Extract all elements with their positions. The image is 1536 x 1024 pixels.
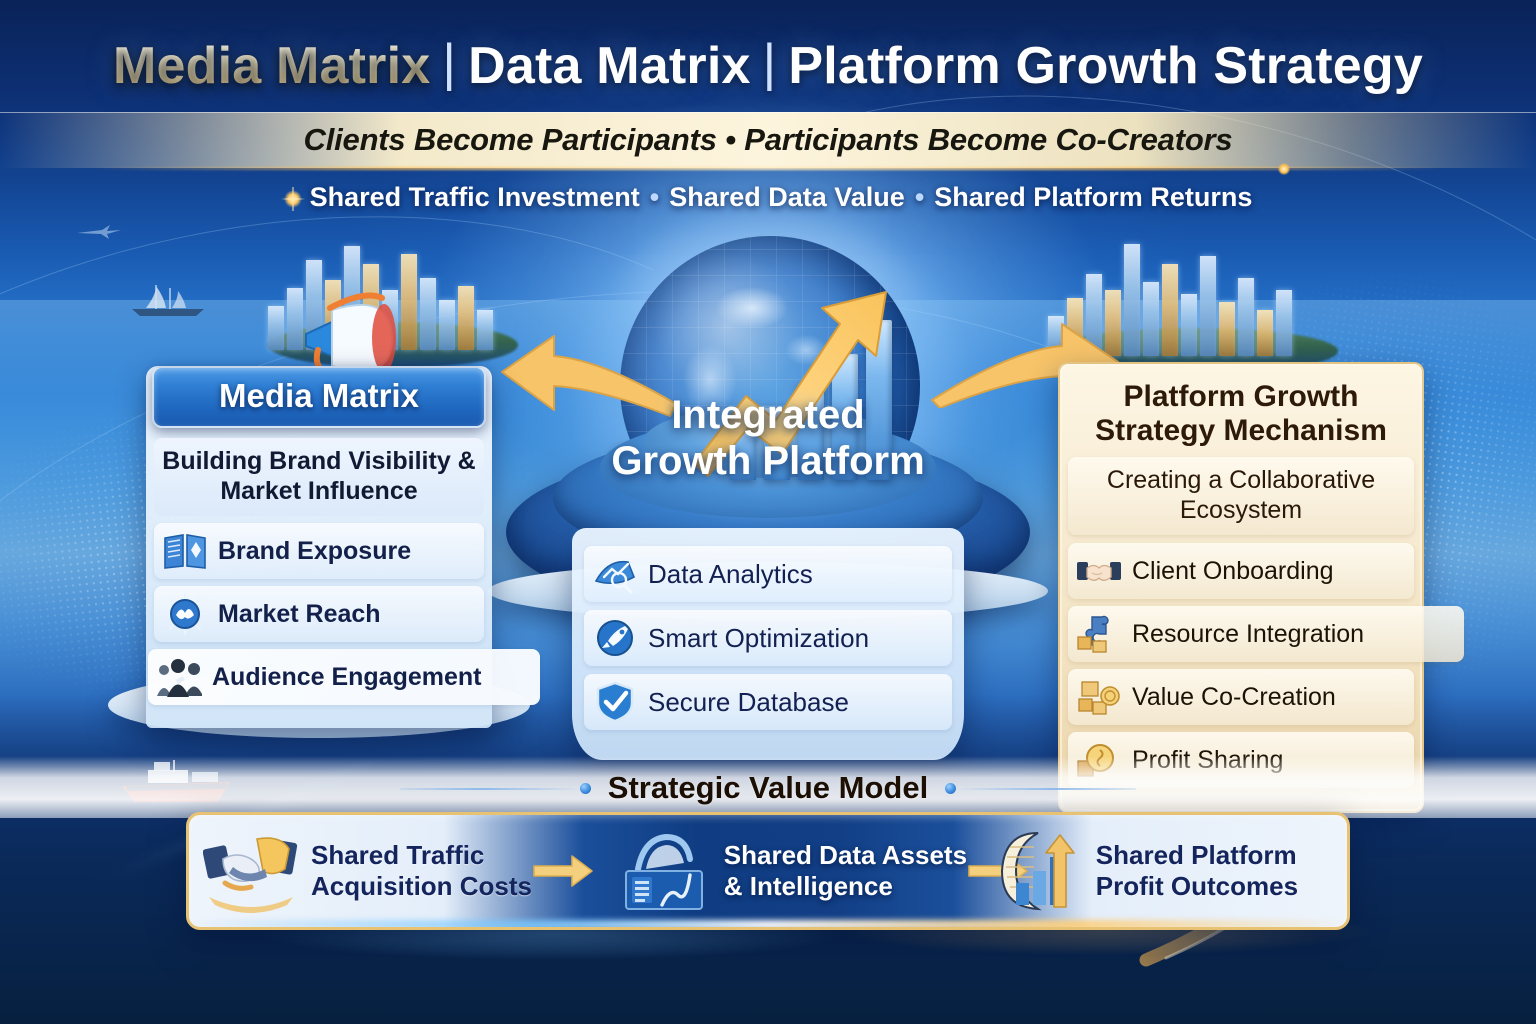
list-item-label: Smart Optimization	[648, 623, 869, 654]
connector-line-right	[956, 788, 1136, 790]
handshake-icon	[1076, 550, 1122, 592]
center-platform-title: Integrated Growth Platform	[506, 392, 1030, 485]
value-step-3-label: Shared Platform Profit Outcomes	[1096, 840, 1298, 902]
tagline-item-2: Shared Data Value	[669, 182, 905, 212]
bar-chart-arrow-icon	[988, 825, 1084, 917]
list-item[interactable]: Resource Integration	[1068, 606, 1464, 662]
strategic-value-bar[interactable]: Shared Traffic Acquisition Costs	[186, 812, 1350, 930]
platform-growth-header-line-2: Strategy Mechanism	[1072, 414, 1410, 448]
sailboat-icon	[126, 279, 210, 319]
platform-growth-panel-header: Platform Growth Strategy Mechanism	[1060, 370, 1422, 451]
open-book-icon	[162, 530, 208, 572]
people-group-icon	[156, 656, 202, 698]
platform-growth-panel-subtitle: Creating a Collaborative Ecosystem	[1068, 457, 1414, 535]
subtitle-glow-dot	[1278, 163, 1290, 175]
list-item[interactable]: Value Co-Creation	[1068, 669, 1414, 725]
value-step-2-line-2: & Intelligence	[724, 871, 967, 902]
value-step-3-line-1: Shared Platform	[1096, 840, 1298, 871]
chart-magnifier-icon	[592, 553, 638, 595]
value-step-3[interactable]: Shared Platform Profit Outcomes	[988, 825, 1347, 917]
list-item-label: Data Analytics	[648, 559, 813, 590]
list-item-label: Resource Integration	[1132, 620, 1364, 649]
data-server-icon	[616, 825, 712, 917]
value-step-3-line-2: Profit Outcomes	[1096, 871, 1298, 902]
connector-dot-left	[580, 783, 591, 794]
page-title: Media Matrix|Data Matrix|Platform Growth…	[0, 36, 1536, 96]
flow-arrow-1-icon	[532, 850, 594, 892]
value-step-1[interactable]: Shared Traffic Acquisition Costs	[189, 825, 616, 917]
strategic-value-model-text: Strategic Value Model	[608, 770, 928, 805]
sparkle-icon	[284, 190, 302, 208]
list-item[interactable]: Smart Optimization	[584, 610, 952, 666]
integrated-growth-platform-panel[interactable]: Data Analytics Smart Optimization	[572, 528, 964, 760]
list-item[interactable]: Secure Database	[584, 674, 952, 730]
list-item-label: Brand Exposure	[218, 537, 411, 566]
shield-check-icon	[592, 681, 638, 723]
gold-coins-boxes-icon	[1076, 676, 1122, 718]
rocket-icon	[592, 617, 638, 659]
value-step-1-line-2: Acquisition Costs	[311, 871, 532, 902]
list-item[interactable]: Market Reach	[154, 586, 484, 642]
platform-growth-strategy-panel[interactable]: Platform Growth Strategy Mechanism Creat…	[1058, 362, 1424, 813]
globe-burst-icon	[162, 593, 208, 635]
value-step-1-line-1: Shared Traffic	[311, 840, 532, 871]
title-separator-2: |	[751, 34, 789, 92]
platform-growth-header-line-1: Platform Growth	[1072, 380, 1410, 414]
header: Media Matrix|Data Matrix|Platform Growth…	[0, 0, 1536, 232]
center-title-line-2: Growth Platform	[506, 438, 1030, 484]
connector-dot-right	[945, 783, 956, 794]
list-item[interactable]: Brand Exposure	[154, 523, 484, 579]
subtitle-banner: Clients Become Participants • Participan…	[0, 112, 1536, 168]
infographic-canvas: Media Matrix|Data Matrix|Platform Growth…	[0, 0, 1536, 1024]
list-item[interactable]: Data Analytics	[584, 546, 952, 602]
list-item-label: Value Co-Creation	[1132, 683, 1336, 712]
subtitle-glow-line	[92, 167, 1444, 170]
list-item[interactable]: Client Onboarding	[1068, 543, 1414, 599]
tagline-separator-2: •	[905, 182, 934, 212]
tagline-separator-1: •	[640, 182, 669, 212]
title-separator-1: |	[430, 34, 468, 92]
value-step-2-line-1: Shared Data Assets	[724, 840, 967, 871]
center-title-line-1: Integrated	[506, 392, 1030, 438]
media-matrix-panel-subtitle: Building Brand Visibility & Market Influ…	[154, 438, 484, 516]
tagline-row: Shared Traffic Investment•Shared Data Va…	[0, 182, 1536, 213]
list-item-label: Secure Database	[648, 687, 849, 718]
media-matrix-panel[interactable]: Media Matrix Building Brand Visibility &…	[146, 368, 492, 728]
strategic-value-model-label: Strategic Value Model	[0, 770, 1536, 806]
list-item[interactable]: Audience Engagement	[148, 649, 540, 705]
list-item-label: Market Reach	[218, 600, 381, 629]
value-step-1-label: Shared Traffic Acquisition Costs	[311, 840, 532, 902]
value-step-2[interactable]: Shared Data Assets & Intelligence	[616, 825, 988, 917]
list-item-label: Audience Engagement	[212, 663, 482, 692]
connector-line-left	[400, 788, 580, 790]
tagline-item-3: Shared Platform Returns	[934, 182, 1252, 212]
title-segment-data-matrix: Data Matrix	[468, 37, 751, 95]
puzzle-boxes-icon	[1076, 613, 1122, 655]
value-step-2-label: Shared Data Assets & Intelligence	[724, 840, 967, 902]
tagline-item-1: Shared Traffic Investment	[310, 182, 640, 212]
gold-handshake-icon	[203, 825, 299, 917]
title-segment-platform-growth-strategy: Platform Growth Strategy	[788, 37, 1423, 95]
media-matrix-panel-header: Media Matrix	[152, 366, 486, 428]
subtitle-text: Clients Become Participants • Participan…	[304, 122, 1233, 158]
title-segment-media-matrix: Media Matrix	[113, 37, 430, 95]
list-item-label: Client Onboarding	[1132, 557, 1334, 586]
